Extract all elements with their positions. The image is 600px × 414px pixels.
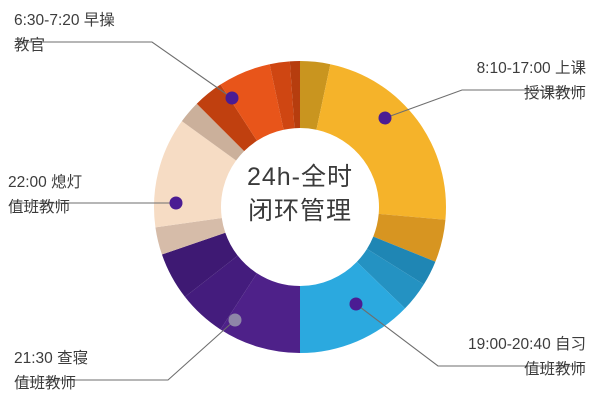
callout-lightsout-role: 值班教师 [8, 195, 82, 220]
callout-morning-time: 6:30-7:20 早操 [14, 8, 115, 33]
callout-study-time: 19:00-20:40 自习 [468, 332, 586, 357]
callout-morning: 6:30-7:20 早操 教官 [14, 8, 115, 58]
center-label-line2: 闭环管理 [222, 194, 378, 228]
callout-bedcheck: 21:30 查寝 值班教师 [14, 346, 88, 396]
callout-lightsout: 22:00 熄灯 值班教师 [8, 170, 82, 220]
callout-bedcheck-role: 值班教师 [14, 371, 88, 396]
dot-bedcheck [229, 314, 242, 327]
callout-class-time: 8:10-17:00 上课 [477, 56, 586, 81]
dot-class [379, 112, 392, 125]
dot-lightsout [170, 197, 183, 210]
center-label-line1: 24h-全时 [222, 160, 378, 194]
callout-study-role: 值班教师 [468, 357, 586, 382]
callout-study: 19:00-20:40 自习 值班教师 [468, 332, 586, 382]
dot-study [350, 298, 363, 311]
callout-class: 8:10-17:00 上课 授课教师 [477, 56, 586, 106]
callout-class-role: 授课教师 [477, 81, 586, 106]
callout-morning-role: 教官 [14, 33, 115, 58]
center-label: 24h-全时 闭环管理 [222, 160, 378, 228]
infographic-canvas: 24h-全时 闭环管理 6:30-7:20 早操 教官 8:10-17:00 上… [0, 0, 600, 414]
callout-bedcheck-time: 21:30 查寝 [14, 346, 88, 371]
dot-morning [226, 92, 239, 105]
callout-lightsout-time: 22:00 熄灯 [8, 170, 82, 195]
